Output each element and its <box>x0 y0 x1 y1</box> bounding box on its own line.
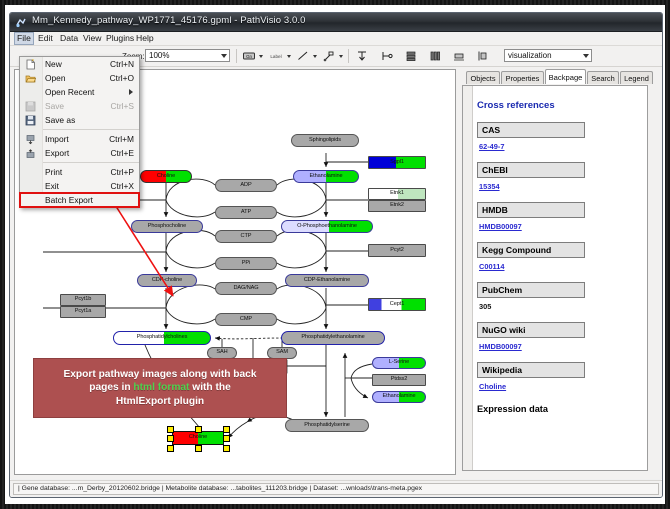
file-menu-shortcut: Ctrl+O <box>110 73 134 83</box>
file-menu-label: Save <box>45 101 64 111</box>
status-bar: | Gene database: ...m_Derby_20120602.bri… <box>10 480 662 497</box>
xref-value-kegg[interactable]: C00114 <box>479 262 645 271</box>
menu-file[interactable]: File <box>14 32 34 45</box>
xref-source-chebi: ChEBI <box>477 162 585 178</box>
status-bar-inner: | Gene database: ...m_Derby_20120602.bri… <box>13 483 659 495</box>
node-cdp-choline[interactable]: CDP-choline <box>137 274 197 287</box>
node-ppi[interactable]: PPi <box>215 257 277 270</box>
node-sgpl1[interactable]: Sgpl1 <box>368 156 426 169</box>
menu-help[interactable]: Help <box>134 33 156 44</box>
visualization-combo[interactable]: visualization <box>504 49 592 62</box>
svg-text:Label: Label <box>270 54 281 59</box>
node-phosphatidylethanolamine[interactable]: Phosphatidylethanolamine <box>281 331 385 345</box>
file-menu-item-exit[interactable]: Exit Ctrl+X <box>20 179 139 193</box>
xref-source-pubchem: PubChem <box>477 282 585 298</box>
datanode-icon[interactable]: Gn <box>242 49 256 63</box>
node-label: ATP <box>241 210 251 216</box>
node-sphingolipids[interactable]: Sphingolipids <box>291 134 359 147</box>
label-dropdown-icon[interactable] <box>287 55 291 58</box>
node-label: Phosphocholine <box>148 224 186 230</box>
xref-source-hmdb: HMDB <box>477 202 585 218</box>
menu-plugins[interactable]: Plugins <box>104 33 136 44</box>
chevron-down-icon <box>221 54 227 58</box>
file-menu-item-import[interactable]: Import Ctrl+M <box>20 132 139 146</box>
backpage-content: Cross references CAS 62-49-7 ChEBI 15354… <box>462 85 648 471</box>
open-folder-icon <box>25 73 36 84</box>
xref-source-nugo: NuGO wiki <box>477 322 585 338</box>
common-height-icon[interactable] <box>476 49 490 63</box>
node-dag-nag[interactable]: DAG/NAG <box>215 282 277 295</box>
node-pcyt2[interactable]: Pcyt2 <box>368 244 426 257</box>
save-disk-icon <box>25 101 36 112</box>
toolbar-separator <box>348 49 349 63</box>
node-label: Choline <box>157 174 175 180</box>
pathvisio-app-icon <box>15 16 27 28</box>
callout-line-3: HtmlExport plugin <box>116 395 204 409</box>
file-menu-label: New <box>45 59 62 69</box>
menu-separator <box>42 129 139 130</box>
menu-view[interactable]: View <box>81 33 103 44</box>
node-ethanolamine-bottom[interactable]: Ethanolamine <box>372 391 426 403</box>
xref-value-chebi[interactable]: 15354 <box>479 182 645 191</box>
node-label: Pcyt2 <box>390 248 404 254</box>
node-label: Etnk2 <box>390 203 404 209</box>
file-menu-shortcut: Ctrl+E <box>110 148 134 158</box>
annotation-callout: Export pathway images along with back pa… <box>33 358 287 418</box>
node-ptdss2[interactable]: Ptdss2 <box>372 374 426 386</box>
node-label: CTP <box>241 234 252 240</box>
file-menu-label: Open Recent <box>45 87 94 97</box>
datanode-dropdown-icon[interactable] <box>259 55 263 58</box>
tab-properties[interactable]: Properties <box>501 71 544 84</box>
callout-line-2: pages in html format with the <box>89 381 231 395</box>
common-width-icon[interactable] <box>452 49 466 63</box>
title-bar: Mm_Kennedy_pathway_WP1771_45176.gpml - P… <box>10 13 662 32</box>
node-etnk2[interactable]: Etnk2 <box>368 200 426 212</box>
file-menu-item-open-recent[interactable]: Open Recent <box>20 85 139 99</box>
zoom-combo[interactable]: 100% <box>145 49 230 62</box>
svg-text:Gn: Gn <box>246 54 252 59</box>
align-top-icon[interactable] <box>355 49 369 63</box>
align-left-icon[interactable] <box>380 49 394 63</box>
file-menu-item-new[interactable]: New Ctrl+N <box>20 57 139 71</box>
line-icon[interactable] <box>296 49 310 63</box>
screenshot-root: Mm_Kennedy_pathway_WP1771_45176.gpml - P… <box>0 0 670 509</box>
node-pcyt1a[interactable]: Pcyt1a <box>60 306 106 318</box>
callout-line-2a: pages in <box>89 382 133 393</box>
node-cept1[interactable]: Cept1 <box>368 298 426 311</box>
node-label: Sgpl1 <box>390 160 404 166</box>
xref-source-kegg: Kegg Compound <box>477 242 585 258</box>
xref-value-hmdb[interactable]: HMDB00097 <box>479 222 645 231</box>
node-label: Pcyt1b <box>75 297 92 303</box>
node-label: SAH <box>216 350 227 356</box>
node-ethanolamine-top[interactable]: Ethanolamine <box>293 170 359 183</box>
zoom-value: 100% <box>149 51 169 60</box>
callout-line-2b: with the <box>189 382 230 393</box>
node-cmp[interactable]: CMP <box>215 313 277 326</box>
node-label: Phosphatidylethanolamine <box>301 335 364 341</box>
xref-value-pubchem: 305 <box>479 302 645 311</box>
node-label: Pcyt1a <box>75 309 92 315</box>
node-label: Phosphatidylcholines <box>137 335 188 341</box>
node-phosphatidylserine[interactable]: Phosphatidylserine <box>285 419 369 432</box>
xref-source-cas: CAS <box>477 122 585 138</box>
file-menu-shortcut: Ctrl+X <box>110 181 134 191</box>
node-label: Ethanolamine <box>309 174 342 180</box>
expression-data-heading: Expression data <box>477 404 645 414</box>
node-label: Sphingolipids <box>309 138 341 144</box>
line-dropdown-icon[interactable] <box>313 55 317 58</box>
xref-value-nugo[interactable]: HMDB00097 <box>479 342 645 351</box>
node-choline-top[interactable]: Choline <box>140 170 192 183</box>
import-icon <box>25 134 36 145</box>
node-label: L-Serine <box>389 360 409 366</box>
file-menu-label: Import <box>45 134 69 144</box>
node-label: CMP <box>240 317 252 323</box>
export-icon <box>25 148 36 159</box>
node-etnk1[interactable]: Etnk1 <box>368 188 426 200</box>
node-atp[interactable]: ATP <box>215 206 277 219</box>
file-menu-label: Export <box>45 148 69 158</box>
save-as-disk-icon <box>25 115 36 126</box>
node-l-serine[interactable]: L-Serine <box>372 357 426 369</box>
node-label: Choline <box>189 435 207 441</box>
menu-bar: File Edit Data View Plugins Help <box>10 32 662 46</box>
backpage-scrollbar[interactable] <box>463 86 473 470</box>
node-ctp[interactable]: CTP <box>215 230 277 243</box>
tab-objects[interactable]: Objects <box>466 71 500 84</box>
file-menu-label: Batch Export <box>45 195 93 205</box>
file-menu-item-print[interactable]: Print Ctrl+P <box>20 165 139 179</box>
stack-vertical-icon[interactable] <box>404 49 418 63</box>
file-menu-shortcut: Ctrl+S <box>110 101 134 111</box>
node-choline-bottom[interactable]: Choline <box>172 431 224 445</box>
label-icon[interactable]: Label <box>268 49 282 63</box>
menu-data[interactable]: Data <box>58 33 80 44</box>
file-menu-item-open[interactable]: Open Ctrl+O <box>20 71 139 85</box>
node-label: Ptdss2 <box>391 377 408 383</box>
chevron-down-icon <box>583 54 589 58</box>
file-menu-shortcut: Ctrl+N <box>110 59 134 69</box>
node-o-phosphoethanolamine[interactable]: O-Phosphoethanolamine <box>281 220 373 233</box>
node-adp[interactable]: ADP <box>215 179 277 192</box>
node-phosphocholine[interactable]: Phosphocholine <box>131 220 203 233</box>
status-text: | Gene database: ...m_Derby_20120602.bri… <box>18 485 422 492</box>
new-document-icon <box>25 59 36 70</box>
tab-search[interactable]: Search <box>587 71 619 84</box>
node-label: DAG/NAG <box>233 286 258 292</box>
file-menu-item-save: Save Ctrl+S <box>20 99 139 113</box>
file-menu-item-export[interactable]: Export Ctrl+E <box>20 146 139 160</box>
node-label: CDP-Ethanolamine <box>304 278 350 284</box>
cross-references-heading: Cross references <box>477 100 645 111</box>
interaction-dropdown-icon[interactable] <box>339 55 343 58</box>
node-label: Cept1 <box>390 302 404 308</box>
node-label: Ethanolamine <box>382 394 415 400</box>
window-title: Mm_Kennedy_pathway_WP1771_45176.gpml - P… <box>32 15 306 26</box>
file-menu-item-save-as[interactable]: Save as <box>20 113 139 127</box>
callout-highlight: html format <box>133 382 189 393</box>
visualization-value: visualization <box>508 51 552 60</box>
node-phosphatidylcholines[interactable]: Phosphatidylcholines <box>113 331 211 345</box>
tab-legend[interactable]: Legend <box>620 71 653 84</box>
menu-separator <box>42 162 139 163</box>
file-menu-item-batch-export[interactable]: Batch Export <box>20 193 139 207</box>
toolbar-separator <box>236 49 237 63</box>
tab-backpage[interactable]: Backpage <box>545 69 586 84</box>
submenu-arrow-icon <box>129 89 133 95</box>
file-menu-label: Print <box>45 167 62 177</box>
node-label: O-Phosphoethanolamine <box>297 224 357 230</box>
interaction-icon[interactable] <box>322 49 336 63</box>
file-menu-shortcut: Ctrl+M <box>109 134 134 144</box>
node-label: PPi <box>242 261 250 267</box>
side-panel-tabs: Objects Properties Backpage Search Legen… <box>460 69 656 85</box>
xref-value-wikipedia[interactable]: Choline <box>479 382 645 391</box>
side-panel: Objects Properties Backpage Search Legen… <box>460 69 656 473</box>
callout-line-1: Export pathway images along with back <box>63 368 256 382</box>
node-label: SAM <box>276 350 288 356</box>
application-window: Mm_Kennedy_pathway_WP1771_45176.gpml - P… <box>9 12 663 498</box>
xref-source-wikipedia: Wikipedia <box>477 362 585 378</box>
file-menu-label: Exit <box>45 181 59 191</box>
node-label: CDP-choline <box>152 278 182 284</box>
node-label: ADP <box>240 183 251 189</box>
node-label: Etnk1 <box>390 191 404 197</box>
file-menu-label: Save as <box>45 115 75 125</box>
node-label: Phosphatidylserine <box>304 423 349 429</box>
menu-edit[interactable]: Edit <box>36 33 55 44</box>
stack-horizontal-icon[interactable] <box>428 49 442 63</box>
node-pcyt1b[interactable]: Pcyt1b <box>60 294 106 306</box>
file-menu-shortcut: Ctrl+P <box>110 167 134 177</box>
xref-value-cas[interactable]: 62-49-7 <box>479 142 645 151</box>
file-menu-label: Open <box>45 73 66 83</box>
node-cdp-ethanolamine[interactable]: CDP-Ethanolamine <box>285 274 369 287</box>
file-menu-dropdown[interactable]: New Ctrl+N Open Ctrl+O Open Recent Save <box>19 56 140 208</box>
